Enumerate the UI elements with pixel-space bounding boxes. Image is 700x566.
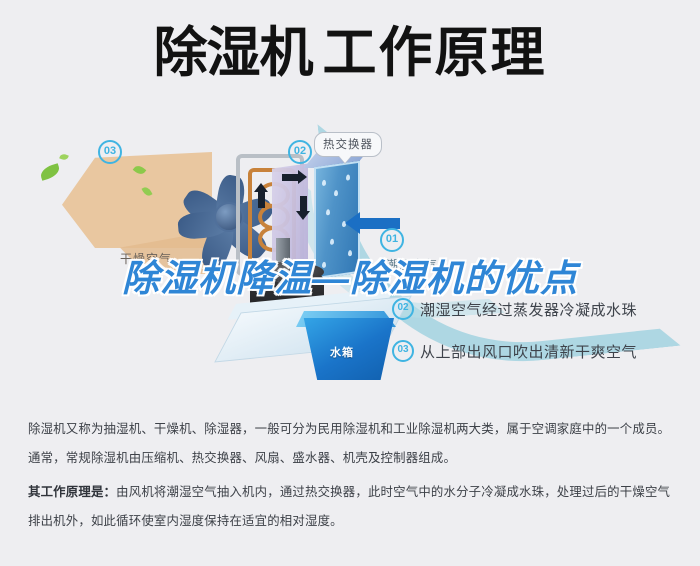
paragraph-1: 除湿机又称为抽湿机、干燥机、除湿器，一般可分为民用除湿机和工业除湿机两大类，属于… (28, 418, 676, 440)
humid-air-label: 潮湿空气 (386, 256, 438, 273)
diagram-marker-03: 03 (98, 140, 122, 164)
dry-air-label: 干燥空气 (120, 250, 172, 267)
water-droplet-icon (346, 174, 350, 181)
compressor-label: 压缩机 (252, 276, 288, 292)
paragraph-2-lead: 其工作原理是： (28, 485, 116, 499)
paragraph-1-cont: 通常，常规除湿机由压缩机、热交换器、风扇、盛水器、机壳及控制器组成。 (28, 447, 676, 469)
water-droplet-icon (330, 238, 334, 245)
flow-arrow-up-icon (258, 192, 265, 208)
water-droplet-icon (322, 180, 326, 187)
step-text-03: 从上部出风口吹出清新干爽空气 (420, 341, 637, 362)
water-droplet-icon (326, 209, 330, 216)
paragraph-2-line-2: 排出机外，如此循环使室内湿度保持在适宜的相对湿度。 (28, 514, 343, 528)
body-copy: 除湿机又称为抽湿机、干燥机、除湿器，一般可分为民用除湿机和工业除湿机两大类，属于… (28, 418, 676, 539)
flow-arrow-right-icon (282, 174, 298, 181)
paragraph-1-line-2: 通常，常规除湿机由压缩机、热交换器、风扇、盛水器、机壳及控制器组成。 (28, 451, 456, 465)
paragraph-2-line-1: 由风机将潮湿空气抽入机内，通过热交换器，此时空气中的水分子冷凝成水珠，处理过后的… (116, 485, 670, 499)
title-part-2: 工作原理 (323, 23, 547, 83)
list-item: 03 从上部出风口吹出清新干爽空气 (392, 340, 692, 362)
diagram-marker-02: 02 (288, 140, 312, 164)
paragraph-1-line-1: 除湿机又称为抽湿机、干燥机、除湿器，一般可分为民用除湿机和工业除湿机两大类，属于… (28, 422, 670, 436)
title-part-1: 除湿机 (154, 23, 313, 83)
title-text-group: 除湿机工作原理 (154, 22, 547, 84)
step-badge-02: 02 (392, 298, 414, 320)
heat-exchanger-callout: 热交换器 (314, 132, 382, 157)
leaf-icon (39, 163, 62, 181)
diagram-marker-01: 01 (380, 228, 404, 252)
paragraph-2: 其工作原理是：由风机将潮湿空气抽入机内，通过热交换器，此时空气中的水分子冷凝成水… (28, 481, 676, 503)
page-title: 除湿机工作原理 (0, 22, 700, 84)
step-text-02: 潮湿空气经过蒸发器冷凝成水珠 (420, 299, 637, 320)
step-badge-03: 03 (392, 340, 414, 362)
water-tank-label: 水箱 (330, 344, 354, 360)
step-list: 02 潮湿空气经过蒸发器冷凝成水珠 03 从上部出风口吹出清新干爽空气 (392, 298, 692, 382)
leaf-icon (59, 153, 69, 162)
infographic-page: 除湿机工作原理 (0, 0, 700, 566)
flow-arrow-down-icon (300, 196, 307, 212)
water-droplet-icon (348, 250, 352, 257)
water-droplet-icon (334, 190, 338, 197)
water-droplet-icon (322, 262, 326, 269)
list-item: 02 潮湿空气经过蒸发器冷凝成水珠 (392, 298, 692, 320)
paragraph-2-cont: 排出机外，如此循环使室内湿度保持在适宜的相对湿度。 (28, 510, 676, 532)
